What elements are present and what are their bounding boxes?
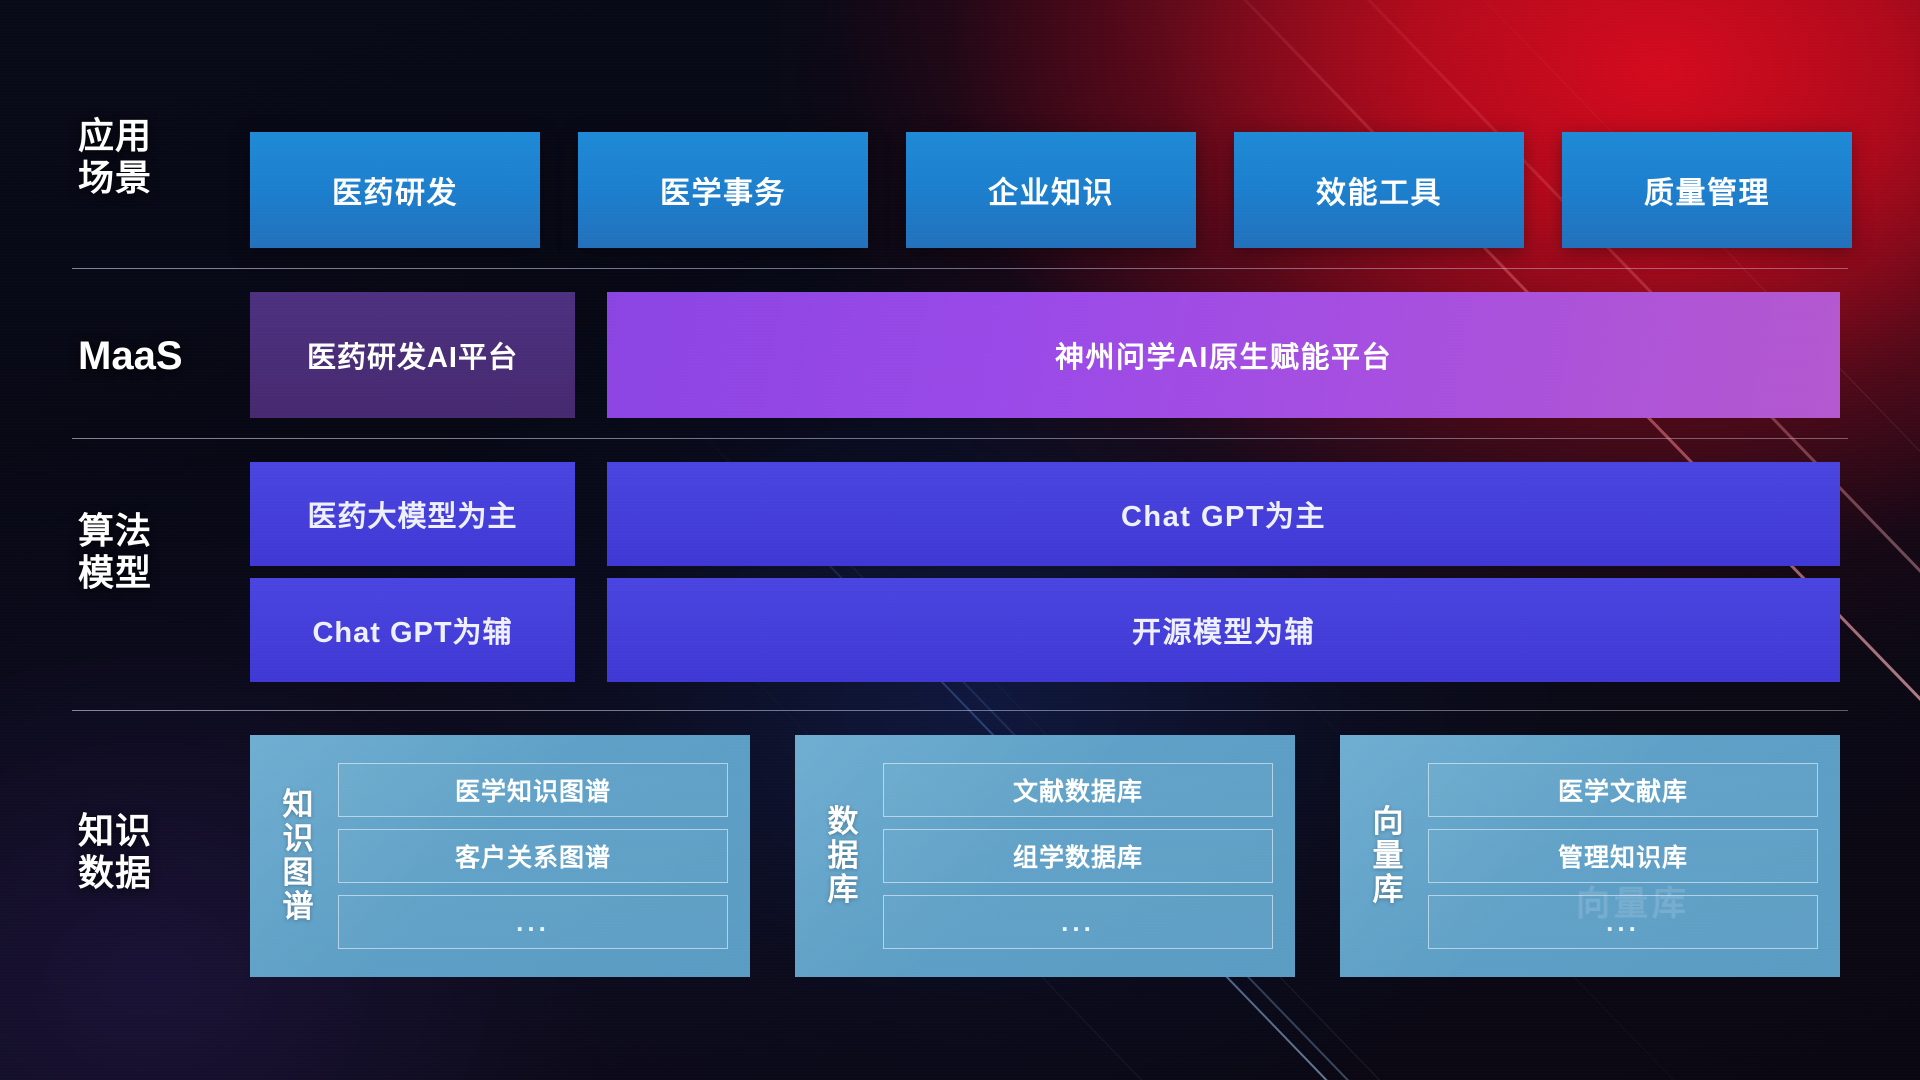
knowledge-group-vector: 向量库 向量库 医学文献库 管理知识库 ... (1340, 735, 1840, 977)
row-label-application-line1: 应用 (78, 115, 228, 157)
algo-box-chatgpt-primary[interactable]: Chat GPT为主 (607, 462, 1840, 566)
knowledge-group-graph: 知识图谱 医学知识图谱 客户关系图谱 ... (250, 735, 750, 977)
knowledge-group-graph-label: 知识图谱 (276, 788, 320, 924)
knowledge-item-omics-db[interactable]: 组学数据库 (883, 829, 1273, 883)
app-box-efficiency-tools[interactable]: 效能工具 (1234, 132, 1524, 248)
row-label-algorithm-line1: 算法 (78, 510, 228, 552)
knowledge-item-medical-literature[interactable]: 医学文献库 (1428, 763, 1818, 817)
divider-application-maas (72, 268, 1848, 269)
divider-maas-algorithm (72, 438, 1848, 439)
row-label-knowledge: 知识 数据 (78, 810, 228, 894)
algo-box-opensource-secondary[interactable]: 开源模型为辅 (607, 578, 1840, 682)
slide-canvas: 应用 场景 医药研发 医学事务 企业知识 效能工具 质量管理 MaaS 医药研发… (0, 0, 1920, 1080)
row-label-application: 应用 场景 (78, 115, 228, 199)
knowledge-item-management-kb[interactable]: 管理知识库 (1428, 829, 1818, 883)
maas-box-drug-ai-platform[interactable]: 医药研发AI平台 (250, 292, 575, 418)
knowledge-item-database-more[interactable]: ... (883, 895, 1273, 949)
row-label-knowledge-line2: 数据 (78, 852, 228, 894)
diagram-content: 应用 场景 医药研发 医学事务 企业知识 效能工具 质量管理 MaaS 医药研发… (0, 0, 1920, 1080)
row-label-maas: MaaS (78, 333, 228, 379)
divider-algorithm-knowledge (72, 710, 1848, 711)
knowledge-data-row: 知识图谱 医学知识图谱 客户关系图谱 ... 数据库 文献数据库 组学数据库 .… (250, 735, 1840, 977)
maas-row: 医药研发AI平台 神州问学AI原生赋能平台 (250, 292, 1840, 418)
knowledge-group-vector-label: 向量库 (1366, 805, 1410, 907)
application-scenario-row: 医药研发 医学事务 企业知识 效能工具 质量管理 (250, 132, 1852, 248)
knowledge-group-database-items: 文献数据库 组学数据库 ... (883, 763, 1273, 949)
knowledge-group-graph-items: 医学知识图谱 客户关系图谱 ... (338, 763, 728, 949)
algorithm-row-secondary: Chat GPT为辅 开源模型为辅 (250, 578, 1840, 682)
app-box-quality-management[interactable]: 质量管理 (1562, 132, 1852, 248)
knowledge-item-vector-more[interactable]: ... (1428, 895, 1818, 949)
algorithm-row-primary: 医药大模型为主 Chat GPT为主 (250, 462, 1840, 566)
row-label-algorithm-line2: 模型 (78, 552, 228, 594)
app-box-drug-rd[interactable]: 医药研发 (250, 132, 540, 248)
row-label-algorithm: 算法 模型 (78, 510, 228, 594)
knowledge-group-database: 数据库 文献数据库 组学数据库 ... (795, 735, 1295, 977)
knowledge-item-medical-graph[interactable]: 医学知识图谱 (338, 763, 728, 817)
algo-box-chatgpt-secondary[interactable]: Chat GPT为辅 (250, 578, 575, 682)
app-box-medical-affairs[interactable]: 医学事务 (578, 132, 868, 248)
knowledge-group-vector-items: 医学文献库 管理知识库 ... (1428, 763, 1818, 949)
algo-box-pharma-llm-primary[interactable]: 医药大模型为主 (250, 462, 575, 566)
row-label-knowledge-line1: 知识 (78, 810, 228, 852)
knowledge-item-customer-graph[interactable]: 客户关系图谱 (338, 829, 728, 883)
app-box-enterprise-knowledge[interactable]: 企业知识 (906, 132, 1196, 248)
row-label-application-line2: 场景 (78, 157, 228, 199)
knowledge-item-graph-more[interactable]: ... (338, 895, 728, 949)
knowledge-group-database-label: 数据库 (821, 805, 865, 907)
maas-box-shenzhou-platform[interactable]: 神州问学AI原生赋能平台 (607, 292, 1840, 418)
knowledge-item-literature-db[interactable]: 文献数据库 (883, 763, 1273, 817)
